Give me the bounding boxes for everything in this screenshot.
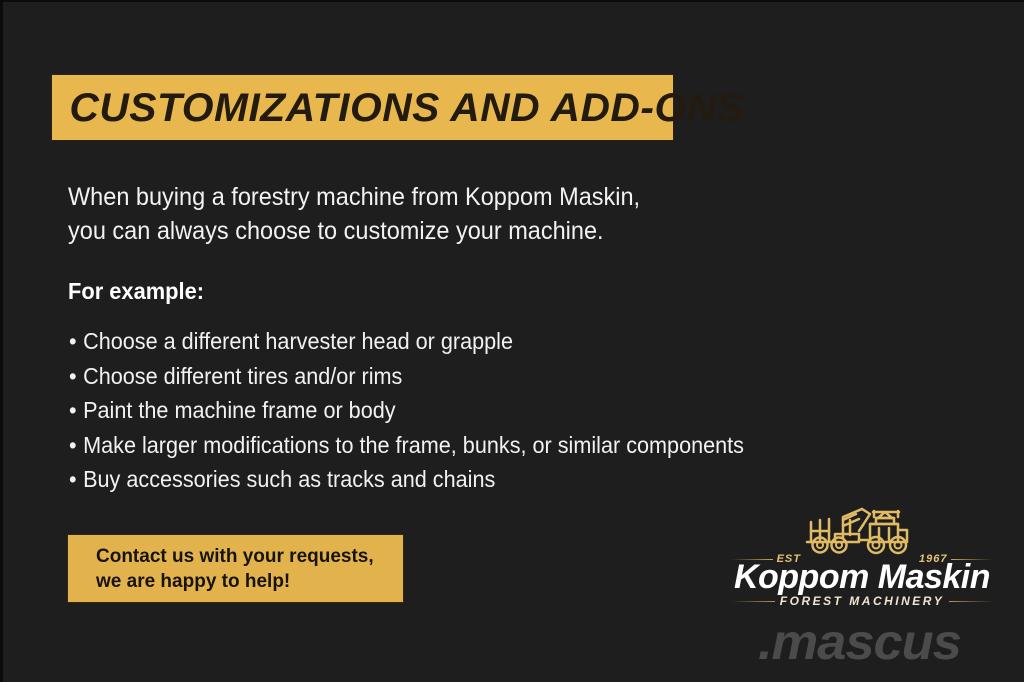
title-banner: CUSTOMIZATIONS AND ADD-ONS [52,75,673,140]
bullet-dot-icon: • [69,359,77,394]
intro-line-1: When buying a forestry machine from Kopp… [68,180,726,214]
list-item: • Make larger modifications to the frame… [69,428,744,463]
logo-tagline-rule-left [731,601,775,602]
slide-canvas: CUSTOMIZATIONS AND ADD-ONS When buying a… [0,0,1024,682]
logo-tagline-rule-right [949,601,993,602]
bullet-dot-icon: • [69,324,77,359]
list-item: • Choose a different harvester head or g… [69,324,744,359]
list-item-label: Paint the machine frame or body [83,397,395,423]
list-item-label: Make larger modifications to the frame, … [83,432,744,458]
intro-paragraph: When buying a forestry machine from Kopp… [68,180,726,248]
bullet-dot-icon: • [69,393,77,428]
intro-line-2: you can always choose to customize your … [68,214,726,248]
customization-list: • Choose a different harvester head or g… [69,324,744,497]
for-example-label: For example: [68,278,204,305]
bullet-dot-icon: • [69,462,77,497]
logo-tagline: FOREST MACHINERY [780,594,944,608]
logo-tagline-row: FOREST MACHINERY [731,594,993,608]
list-item: • Buy accessories such as tracks and cha… [69,462,744,497]
contact-line-1: Contact us with your requests, [96,544,403,569]
koppom-maskin-logo: EST 1967 Koppom Maskin FOREST MACHINERY [731,500,993,608]
contact-line-2: we are happy to help! [96,569,403,594]
list-item-label: Choose a different harvester head or gra… [83,328,513,354]
forestry-forwarder-icon [800,500,924,556]
list-item-label: Buy accessories such as tracks and chain… [83,466,495,492]
logo-brand-name: Koppom Maskin [731,559,993,595]
list-item: • Paint the machine frame or body [69,393,744,428]
bullet-dot-icon: • [69,428,77,463]
contact-callout-box[interactable]: Contact us with your requests, we are ha… [68,535,403,602]
list-item-label: Choose different tires and/or rims [83,363,402,389]
mascus-watermark: .mascus [758,616,961,668]
list-item: • Choose different tires and/or rims [69,359,744,394]
page-title: CUSTOMIZATIONS AND ADD-ONS [52,88,744,128]
